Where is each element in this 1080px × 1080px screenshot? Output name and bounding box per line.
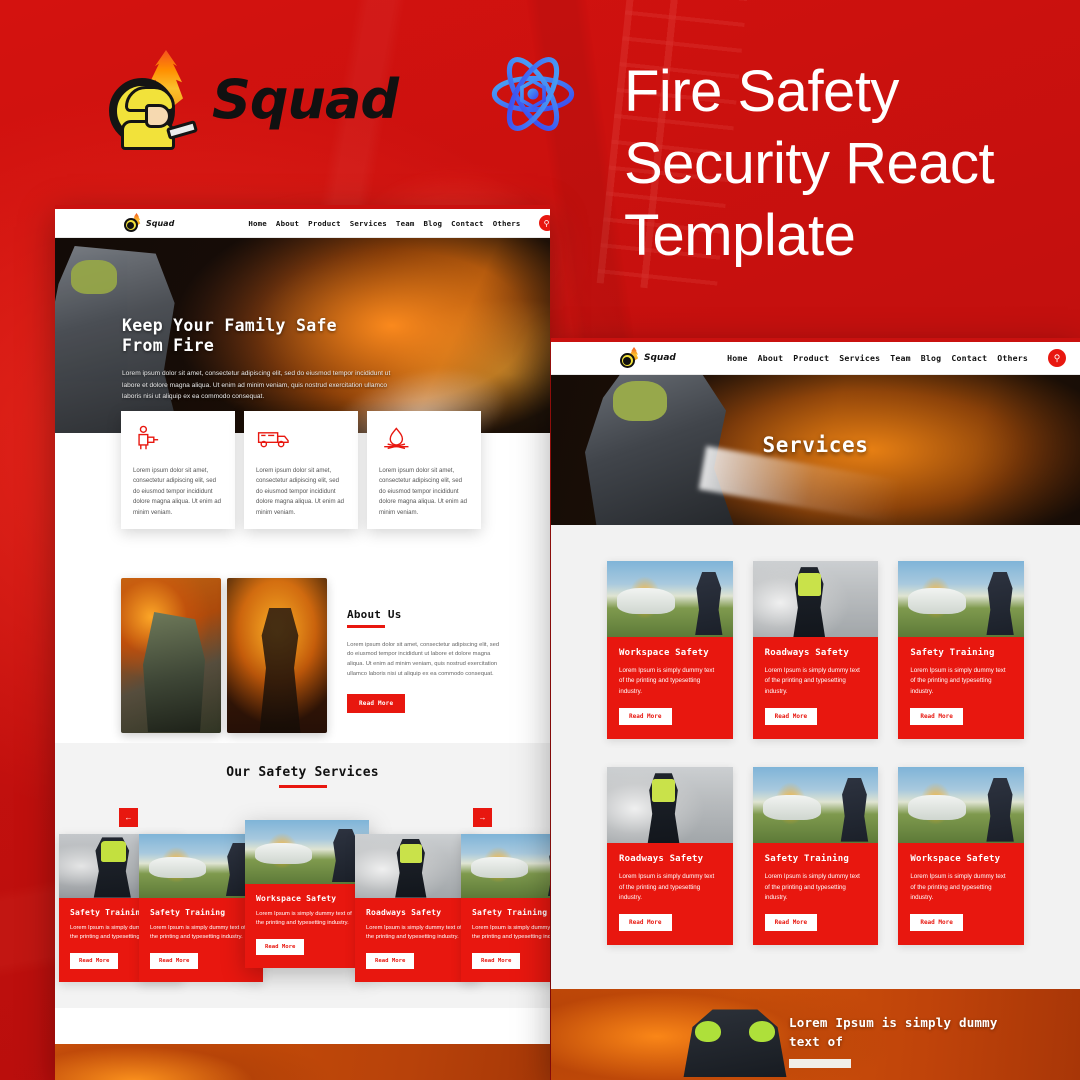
carousel-card-text: Lorem Ipsum is simply dummy text of the … [150, 924, 252, 943]
nav-link-product[interactable]: Product [793, 353, 829, 363]
about-copy: About Us Lorem ipsum dolor sit amet, con… [347, 608, 507, 713]
carousel-read-more-button[interactable]: Read More [150, 953, 198, 969]
nav-link-about[interactable]: About [758, 353, 784, 363]
navbar-links-a: Home About Product Services Team Blog Co… [248, 215, 550, 231]
title-underline [279, 785, 327, 788]
carousel-card-title: Roadways Safety [366, 908, 468, 917]
hero-body-a: Lorem ipsum dolor sit amet, consectetur … [122, 368, 400, 403]
service-card-image [753, 561, 879, 637]
about-photo-1 [121, 578, 221, 733]
feature-card[interactable]: Lorem ipsum dolor sit amet, consectetur … [121, 411, 235, 529]
services-page-title: Services [551, 433, 1080, 457]
firefighter-mascot-icon [105, 52, 200, 147]
service-read-more-button[interactable]: Read More [765, 708, 818, 725]
footer-cta-text: Lorem Ipsum is simply dummy text of [789, 1013, 1059, 1073]
service-card-title: Safety Training [765, 854, 867, 864]
nav-link-others[interactable]: Others [997, 353, 1028, 363]
carousel-read-more-button[interactable]: Read More [70, 953, 118, 969]
arrow-right-icon[interactable]: → [473, 808, 492, 827]
safety-services-title: Our Safety Services [55, 765, 550, 780]
service-card-image [607, 561, 733, 637]
service-card[interactable]: Workspace Safety Lorem Ipsum is simply d… [607, 561, 733, 739]
title-line-2: Security React [624, 128, 1064, 200]
service-card-text: Lorem Ipsum is simply dummy text of the … [910, 872, 1012, 903]
navbar-brand-b[interactable]: Squad [619, 347, 676, 369]
firefighter-mascot-icon [619, 347, 641, 369]
safety-services-section: Our Safety Services ← → Safety Training … [55, 743, 550, 1008]
feature-card[interactable]: Lorem ipsum dolor sit amet, consectetur … [244, 411, 358, 529]
title-underline [347, 625, 385, 628]
footer-cta-line-2: text of [789, 1032, 1059, 1051]
service-card-title: Safety Training [910, 648, 1012, 658]
navbar-brand-label: Squad [644, 353, 676, 363]
carousel-read-more-button[interactable]: Read More [472, 953, 520, 969]
service-card-image [898, 561, 1024, 637]
nav-link-others[interactable]: Others [493, 219, 521, 228]
nav-link-services[interactable]: Services [839, 353, 880, 363]
service-read-more-button[interactable]: Read More [765, 914, 818, 931]
service-card-text: Lorem Ipsum is simply dummy text of the … [765, 666, 867, 697]
carousel-card-title: Safety Training [472, 908, 550, 917]
footer-cta-button[interactable] [789, 1059, 851, 1068]
service-card[interactable]: Roadways Safety Lorem Ipsum is simply du… [753, 561, 879, 739]
service-card-text: Lorem Ipsum is simply dummy text of the … [765, 872, 867, 903]
carousel-card[interactable]: Safety Training Lorem Ipsum is simply du… [461, 834, 550, 982]
nav-link-about[interactable]: About [276, 219, 299, 228]
service-card[interactable]: Safety Training Lorem Ipsum is simply du… [753, 767, 879, 945]
carousel-card-text: Lorem Ipsum is simply dummy text of the … [472, 924, 550, 943]
navbar-brand-label: Squad [146, 219, 174, 228]
nav-link-services[interactable]: Services [350, 219, 387, 228]
feature-card-text: Lorem ipsum dolor sit amet, consectetur … [379, 466, 469, 518]
about-title: About Us [347, 608, 507, 621]
footer-banner-a [55, 1044, 550, 1080]
nav-link-product[interactable]: Product [308, 219, 341, 228]
firefighter-helmet-photo [679, 1007, 791, 1077]
campfire-icon [379, 425, 414, 451]
services-carousel: ← → Safety Training Lorem Ipsum is simpl… [55, 808, 550, 998]
services-page-mockup: Squad Home About Product Services Team B… [551, 338, 1080, 1080]
service-read-more-button[interactable]: Read More [619, 708, 672, 725]
section-divider [55, 1008, 550, 1044]
title-line-1: Fire Safety [624, 56, 1064, 128]
carousel-read-more-button[interactable]: Read More [366, 953, 414, 969]
nav-link-contact[interactable]: Contact [451, 219, 484, 228]
search-icon[interactable]: ⚲ [539, 215, 550, 231]
service-read-more-button[interactable]: Read More [619, 914, 672, 931]
service-card[interactable]: Workspace Safety Lorem Ipsum is simply d… [898, 767, 1024, 945]
services-grid: Workspace Safety Lorem Ipsum is simply d… [551, 525, 1080, 989]
about-photo-2 [227, 578, 327, 733]
service-card[interactable]: Safety Training Lorem Ipsum is simply du… [898, 561, 1024, 739]
service-card-title: Roadways Safety [765, 648, 867, 658]
navbar-a: Squad Home About Product Services Team B… [55, 209, 550, 238]
page-title: Fire Safety Security React Template [624, 56, 1064, 272]
firefighter-mascot-icon [123, 213, 143, 233]
navbar-brand-a[interactable]: Squad [123, 213, 174, 233]
service-card[interactable]: Roadways Safety Lorem Ipsum is simply du… [607, 767, 733, 945]
navbar-links-b: Home About Product Services Team Blog Co… [727, 349, 1066, 367]
service-card-title: Workspace Safety [619, 648, 721, 658]
carousel-card-featured[interactable]: Workspace Safety Lorem Ipsum is simply d… [245, 820, 369, 968]
carousel-card-text: Lorem Ipsum is simply dummy text of the … [256, 910, 358, 929]
nav-link-home[interactable]: Home [727, 353, 748, 363]
arrow-left-icon[interactable]: ← [119, 808, 138, 827]
feature-card-text: Lorem ipsum dolor sit amet, consectetur … [133, 466, 223, 518]
carousel-card-text: Lorem Ipsum is simply dummy text of the … [366, 924, 468, 943]
nav-link-home[interactable]: Home [248, 219, 267, 228]
nav-link-team[interactable]: Team [890, 353, 911, 363]
nav-link-blog[interactable]: Blog [921, 353, 942, 363]
service-card-text: Lorem Ipsum is simply dummy text of the … [619, 666, 721, 697]
react-atom-icon [487, 48, 579, 140]
service-card-image [898, 767, 1024, 843]
feature-cards-row: Lorem ipsum dolor sit amet, consectetur … [55, 433, 550, 568]
hero-water-jet [699, 446, 904, 524]
hero-section-b: Services [551, 375, 1080, 525]
carousel-card-title: Workspace Safety [256, 894, 358, 903]
about-read-more-button[interactable]: Read More [347, 694, 405, 713]
brand-lockup: Squad [105, 52, 398, 147]
about-section: About Us Lorem ipsum dolor sit amet, con… [55, 568, 550, 743]
firefighter-hydrant-icon [133, 425, 168, 451]
service-card-title: Workspace Safety [910, 854, 1012, 864]
navbar-b: Squad Home About Product Services Team B… [551, 342, 1080, 375]
homepage-mockup: Squad Home About Product Services Team B… [55, 205, 550, 1080]
feature-card-text: Lorem ipsum dolor sit amet, consectetur … [256, 466, 346, 518]
service-read-more-button[interactable]: Read More [910, 914, 963, 931]
fire-truck-icon [256, 425, 291, 451]
carousel-card-image [461, 834, 550, 898]
about-body: Lorem ipsum dolor sit amet, consectetur … [347, 641, 507, 680]
service-card-text: Lorem Ipsum is simply dummy text of the … [910, 666, 1012, 697]
footer-cta-line-1: Lorem Ipsum is simply dummy [789, 1013, 1059, 1032]
title-line-3: Template [624, 200, 1064, 272]
carousel-card-title: Safety Training [150, 908, 252, 917]
feature-card[interactable]: Lorem ipsum dolor sit amet, consectetur … [367, 411, 481, 529]
hero-title-line-1: Keep Your Family Safe [122, 316, 412, 336]
service-read-more-button[interactable]: Read More [910, 708, 963, 725]
carousel-read-more-button[interactable]: Read More [256, 939, 304, 955]
footer-banner-b: Lorem Ipsum is simply dummy text of [551, 989, 1080, 1080]
service-card-image [753, 767, 879, 843]
service-card-image [607, 767, 733, 843]
nav-link-team[interactable]: Team [396, 219, 415, 228]
service-card-title: Roadways Safety [619, 854, 721, 864]
search-icon[interactable]: ⚲ [1048, 349, 1066, 367]
hero-title-a: Keep Your Family Safe From Fire [122, 316, 412, 356]
service-card-text: Lorem Ipsum is simply dummy text of the … [619, 872, 721, 903]
nav-link-blog[interactable]: Blog [424, 219, 443, 228]
hero-section-a: Keep Your Family Safe From Fire Lorem ip… [55, 238, 550, 433]
brand-name: Squad [212, 73, 398, 127]
nav-link-contact[interactable]: Contact [951, 353, 987, 363]
hero-title-line-2: From Fire [122, 336, 412, 356]
safety-services-header: Our Safety Services [55, 765, 550, 788]
carousel-card-image [245, 820, 369, 884]
